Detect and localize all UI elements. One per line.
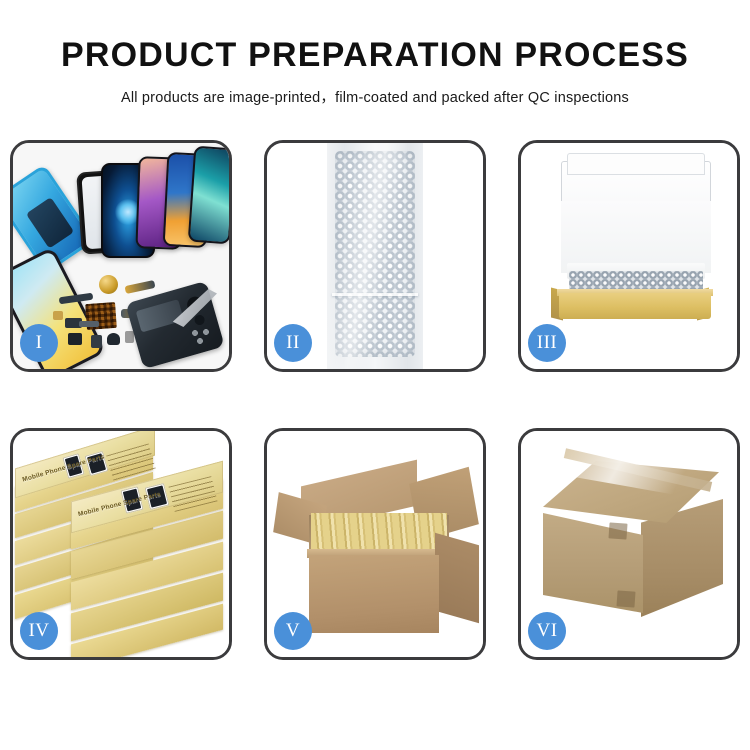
mailer-lid-icon bbox=[561, 161, 711, 273]
step-badge-5: V bbox=[274, 612, 312, 650]
carton-side-panel-icon bbox=[435, 533, 479, 624]
phone-teal-screen-icon bbox=[188, 146, 229, 245]
step-panel-5: V bbox=[264, 428, 486, 660]
page-title: PRODUCT PREPARATION PROCESS bbox=[0, 36, 750, 75]
coil-part-icon bbox=[99, 275, 118, 294]
step-badge-1: I bbox=[20, 324, 58, 362]
step-panel-3: III bbox=[518, 140, 740, 372]
step-panel-2: II bbox=[264, 140, 486, 372]
header: PRODUCT PREPARATION PROCESS All products… bbox=[0, 0, 750, 107]
screws-icon bbox=[191, 329, 215, 345]
page-subtitle: All products are image-printed，film-coat… bbox=[0, 86, 750, 107]
small-part-3-icon bbox=[91, 335, 102, 348]
small-part-7-icon bbox=[53, 311, 63, 320]
step-panel-6: VI bbox=[518, 428, 740, 660]
plastic-sheen bbox=[327, 143, 423, 369]
step-badge-4: IV bbox=[20, 612, 58, 650]
carton-front-panel-icon bbox=[309, 555, 439, 633]
carton-handle-notch-icon bbox=[608, 522, 627, 539]
product-preparation-infographic: PRODUCT PREPARATION PROCESS All products… bbox=[0, 0, 750, 750]
small-part-2-icon bbox=[68, 333, 82, 345]
step-badge-2: II bbox=[274, 324, 312, 362]
step-panel-4: Mobile Phone Spare Parts Mobile Phone Sp… bbox=[10, 428, 232, 660]
step-badge-3: III bbox=[528, 324, 566, 362]
steps-grid: I II bbox=[10, 140, 740, 680]
small-part-6-icon bbox=[79, 321, 99, 327]
mailer-front-panel-icon bbox=[559, 293, 711, 319]
step-panel-1: I bbox=[10, 140, 232, 372]
step-badge-6: VI bbox=[528, 612, 566, 650]
carton-handle-notch-icon bbox=[616, 590, 635, 607]
small-part-4-icon bbox=[107, 333, 120, 345]
